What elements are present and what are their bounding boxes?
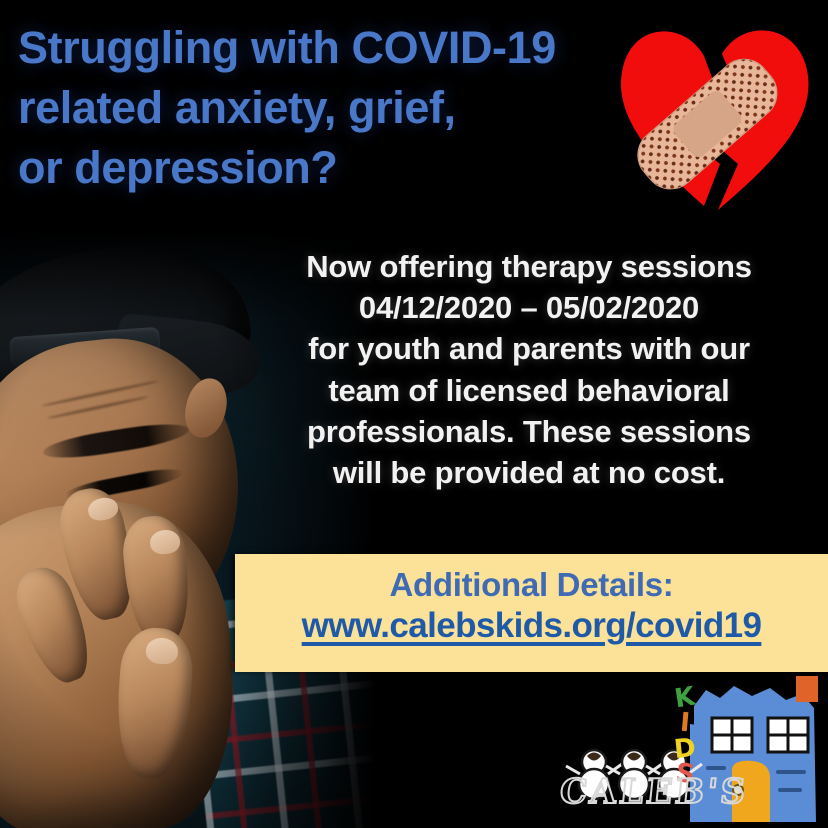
calebs-kids-logo[interactable]: K I D S CALEB'S [556,672,828,828]
body-copy: Now offering therapy sessions 04/12/2020… [246,246,812,493]
poster-canvas: Struggling with COVID-19 related anxiety… [0,0,828,828]
body-line-6: will be provided at no cost. [246,452,812,493]
details-title: Additional Details: [235,566,828,604]
body-line-4: team of licensed behavioral [246,370,812,411]
headline-line-1: Struggling with COVID-19 [18,18,678,78]
headline-line-3: or depression? [18,138,678,198]
additional-details-box: Additional Details: www.calebskids.org/c… [235,554,828,672]
broken-heart-icon [592,14,820,232]
website-link[interactable]: www.calebskids.org/covid19 [235,606,828,646]
body-line-5: professionals. These sessions [246,411,812,452]
headline: Struggling with COVID-19 related anxiety… [18,18,678,198]
body-line-3: for youth and parents with our [246,328,812,369]
body-line-1: Now offering therapy sessions [246,246,812,287]
headline-line-2: related anxiety, grief, [18,78,678,138]
body-line-2: 04/12/2020 – 05/02/2020 [246,287,812,328]
caleb-wordmark: CALEB'S [558,772,750,812]
